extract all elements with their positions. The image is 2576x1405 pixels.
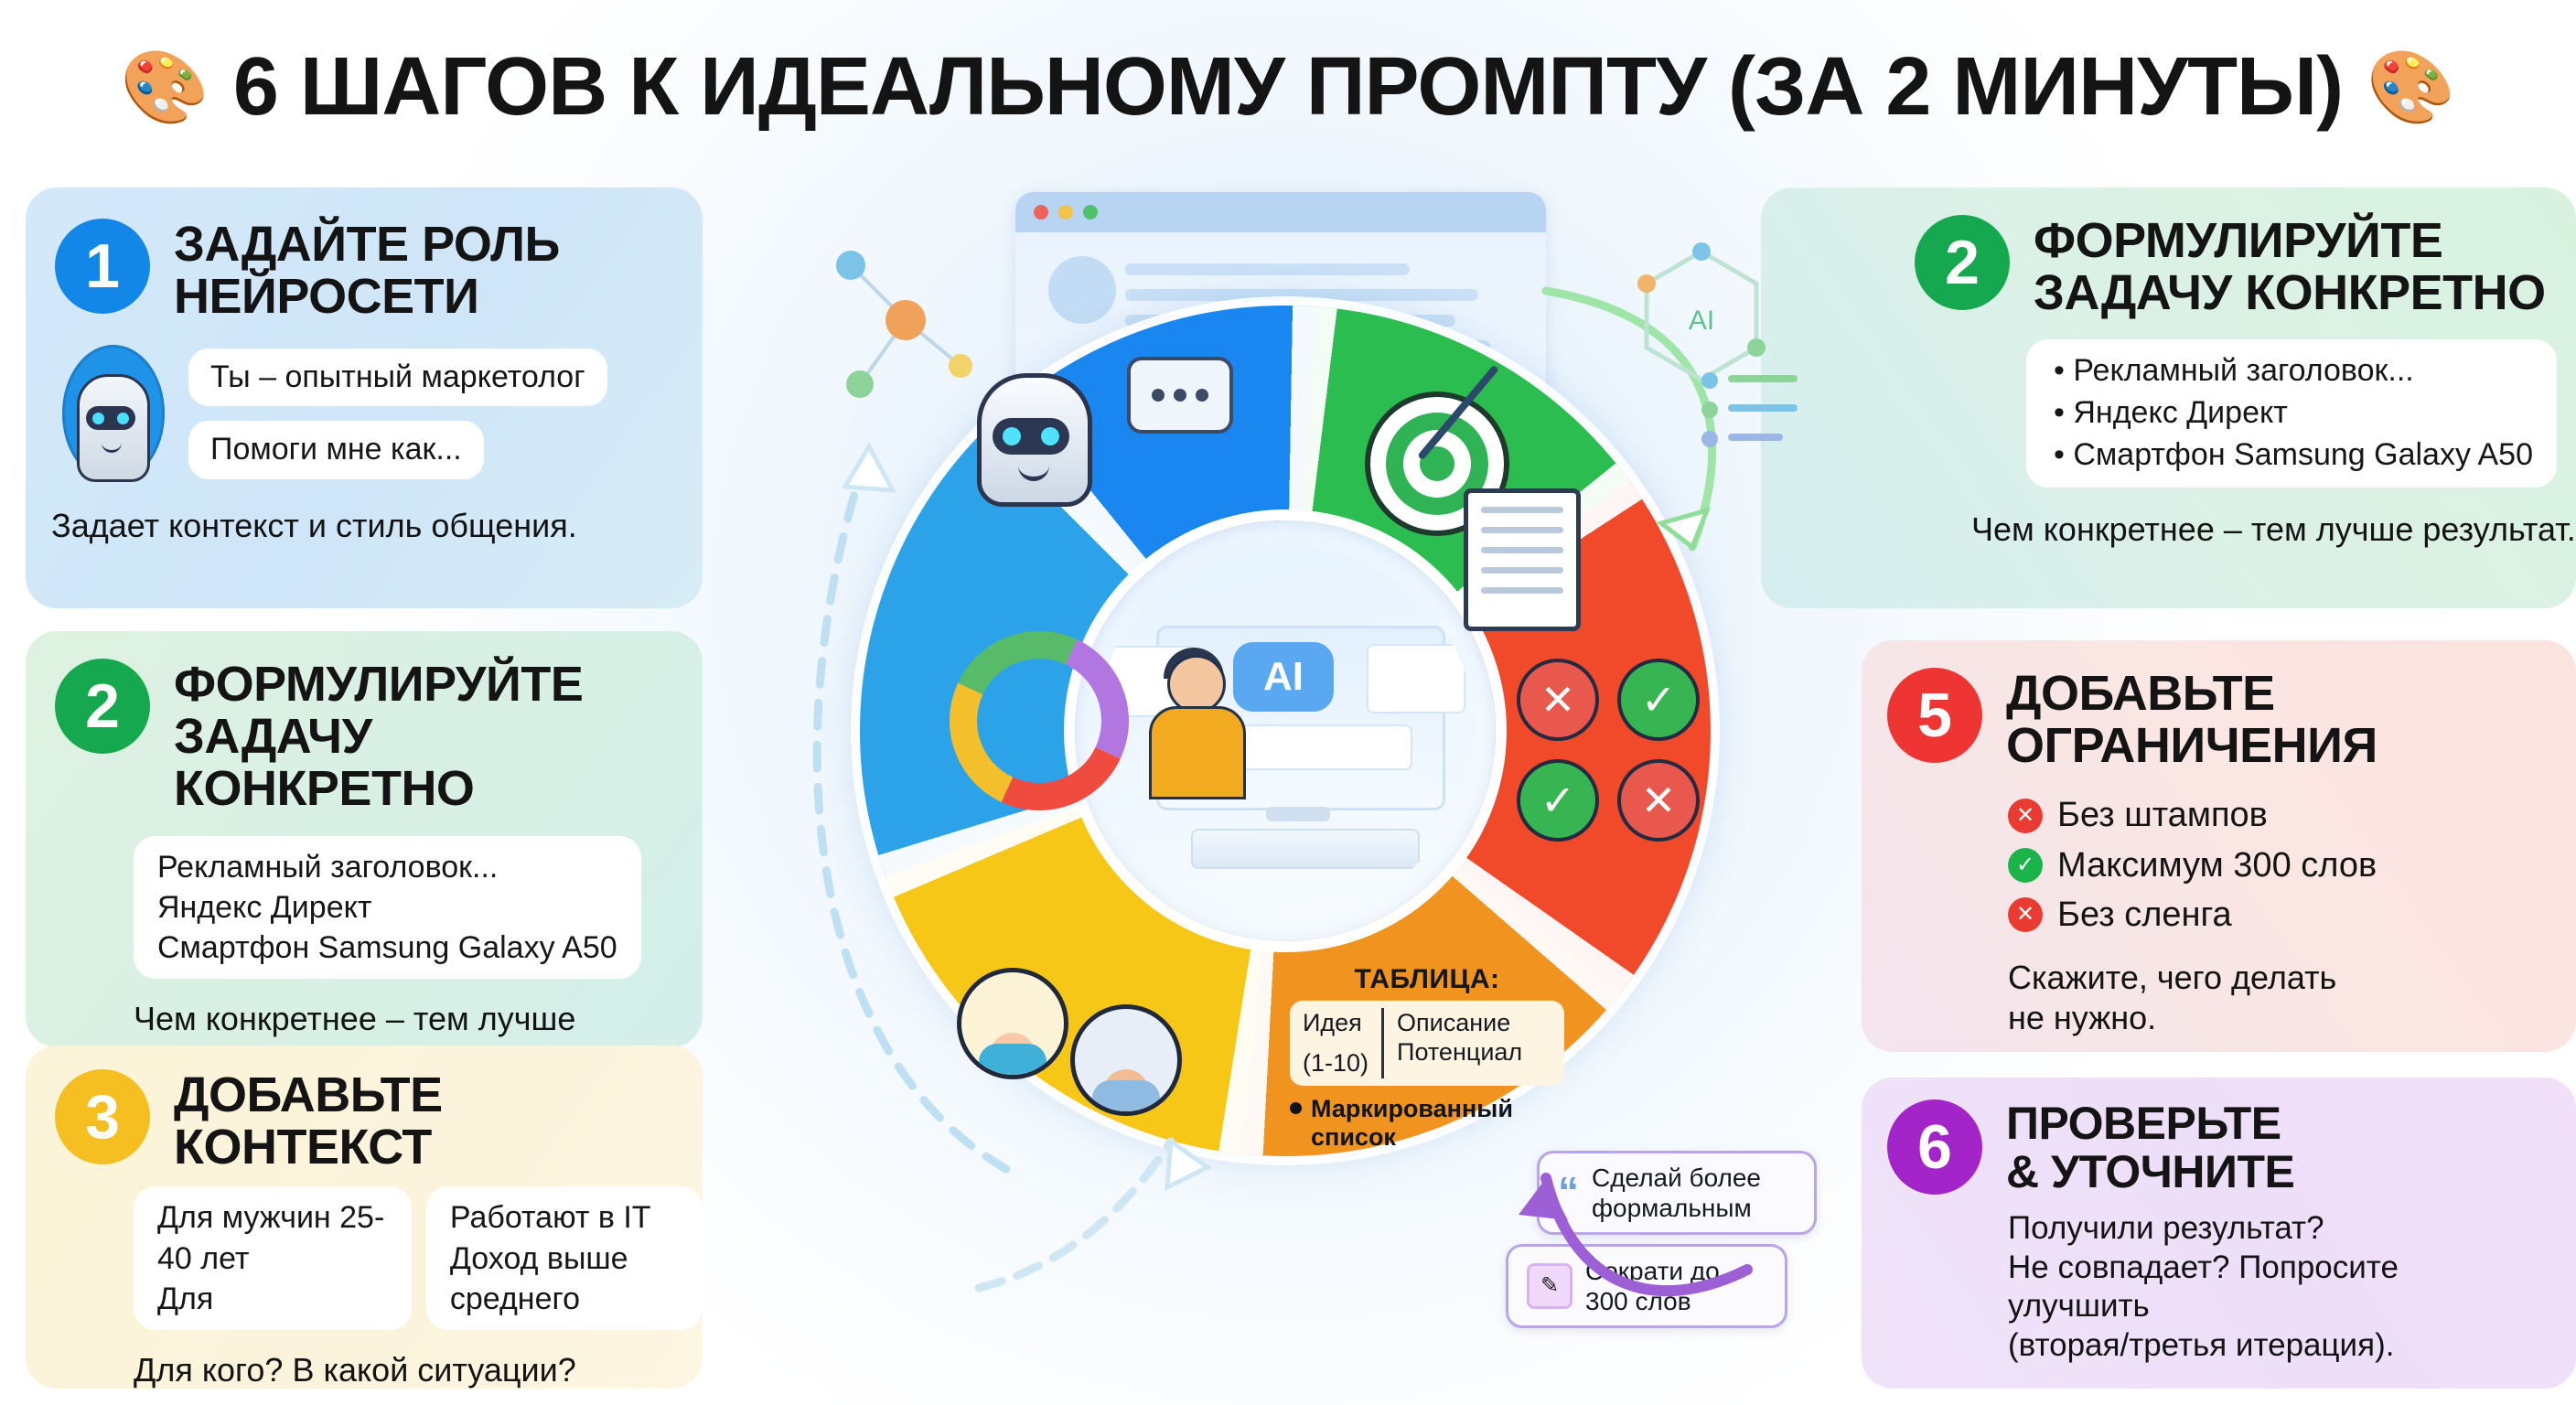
step-title-2l-line2: ЗАДАЧУ КОНКРЕТНО: [174, 711, 681, 815]
check-icon-wheel-2: ✓: [1517, 759, 1599, 842]
molecule-icon-left: [805, 229, 988, 430]
monitor-stand: [1266, 807, 1330, 821]
constraint-item-2: ✓ Максимум 300 слов: [2008, 842, 2576, 888]
cross-icon-1: ✕: [2008, 799, 2043, 833]
constraint-item-3: ✕ Без сленга: [2008, 892, 2576, 938]
mon-input-field: [1235, 724, 1412, 770]
step-number-badge-1: 1: [55, 219, 150, 314]
task-bullet-card[interactable]: • Рекламный заголовок... • Яндекс Директ…: [2026, 339, 2557, 488]
chip-line-2: Яндекс Директ: [157, 887, 617, 928]
flow-arrow-purple: [1445, 1041, 1775, 1343]
step-footer-1: Задает контекст и стиль общения.: [26, 482, 703, 546]
brand-logo-icon: [1048, 256, 1116, 324]
page-title: 🎨 6 ШАГОВ К ИДЕАЛЬНОМУ ПРОМПТУ (ЗА 2 МИН…: [0, 18, 2576, 156]
table-col1-line2: (1-10): [1303, 1048, 1368, 1078]
step-number-badge-3: 3: [55, 1069, 150, 1164]
step-number-badge-6: 6: [1887, 1099, 1982, 1195]
context-a-line-2: Для: [157, 1279, 388, 1319]
step-footer-5-line1: Скажите, чего делать: [2008, 958, 2576, 998]
panel-step-3[interactable]: 3 ДОБАВЬТЕ КОНТЕКСТ Для мужчин 25-40 лет…: [26, 1046, 703, 1389]
infographic-page: 🎨 6 ШАГОВ К ИДЕАЛЬНОМУ ПРОМПТУ (ЗА 2 МИН…: [0, 0, 2576, 1405]
context-chip-a[interactable]: Для мужчин 25-40 лет Для: [134, 1186, 412, 1330]
bullet-dot-icon: [1290, 1102, 1302, 1114]
table-col-1: Идея (1-10): [1303, 1008, 1368, 1078]
flow-arrow-yellow: [942, 1059, 1272, 1334]
step-footer-6-line3: улучшить: [2008, 1287, 2576, 1326]
panel-step-1[interactable]: 1 ЗАДАЙТЕ РОЛЬ НЕЙРОСЕТИ Ты – опытный ма…: [26, 188, 703, 608]
prompt-chip-group-2-left[interactable]: Рекламный заголовок... Яндекс Директ Сма…: [134, 836, 641, 980]
step-title-5-line2: ОГРАНИЧЕНИЯ: [2006, 720, 2377, 772]
step-title-1-line1: ЗАДАЙТЕ РОЛЬ: [174, 219, 560, 271]
person-body: [1149, 706, 1246, 799]
svg-text:AI: AI: [1689, 306, 1714, 336]
mon-card-right: [1367, 644, 1465, 713]
step-footer-6-line1: Получили результат?: [2008, 1209, 2576, 1249]
palette-icon-left: 🎨: [121, 51, 209, 123]
validation-marks-group: ✕ ✓ ✓ ✕: [1517, 659, 1700, 842]
hub-illustration: AI: [1096, 545, 1475, 917]
chip-line-1: Рекламный заголовок...: [157, 847, 617, 887]
step-footer-2-right: Чем конкретнее – тем лучше результат.: [1761, 488, 2576, 550]
prompt-chip-1[interactable]: Ты – опытный маркетолог: [188, 349, 607, 407]
task-bullet-1: • Рекламный заголовок...: [2054, 350, 2533, 392]
step-footer-5-line2: не нужно.: [2008, 998, 2576, 1038]
context-chip-b[interactable]: Работают в IT Доход выше среднего: [426, 1186, 703, 1330]
context-b-line-1: Работают в IT: [450, 1197, 679, 1238]
step-title-6-line2: & УТОЧНИТЕ: [2006, 1148, 2294, 1196]
speech-bubble-icon: [1127, 357, 1233, 434]
step-footer-6-line4: (вторая/третья итерация).: [2008, 1326, 2576, 1366]
step-title-2r-line2: ЗАДАЧУ КОНКРЕТНО: [2034, 267, 2546, 319]
step-title-1-line2: НЕЙРОСЕТИ: [174, 271, 560, 323]
ai-bubble: AI: [1233, 642, 1334, 712]
cross-icon-2: ✕: [2008, 897, 2043, 932]
cross-icon-wheel-1: ✕: [1517, 659, 1599, 741]
maximize-dot-icon: [1083, 205, 1098, 220]
keyboard-icon: [1191, 829, 1420, 869]
table-col2-line1: Описание: [1397, 1008, 1522, 1037]
step-number-badge-5: 5: [1887, 668, 1982, 763]
panel-step-2-right[interactable]: 2 ФОРМУЛИРУЙТЕ ЗАДАЧУ КОНКРЕТНО • Реклам…: [1761, 188, 2576, 608]
chip-line-3: Смартфон Samsung Galaxy A50: [157, 928, 617, 968]
step-footer-2-left: Чем конкретнее – тем лучше результат.: [26, 979, 703, 1047]
step-number-badge-2-right: 2: [1915, 215, 2010, 310]
step-title-2l-line1: ФОРМУЛИРУЙТЕ: [174, 659, 681, 711]
title-text: 6 ШАГОВ К ИДЕАЛЬНОМУ ПРОМПТУ (ЗА 2 МИНУТ…: [233, 40, 2343, 134]
table-col1-line1: Идея: [1303, 1008, 1368, 1037]
cross-icon-wheel-2: ✕: [1617, 759, 1700, 842]
task-bullet-3: • Смартфон Samsung Galaxy A50: [2054, 434, 2533, 477]
list-lines-icon: [1697, 366, 1807, 476]
minimize-dot-icon: [1058, 205, 1073, 220]
table-bullet-line2: список: [1311, 1123, 1396, 1151]
step-number-badge-2-left: 2: [55, 659, 150, 754]
step-title-2r-line1: ФОРМУЛИРУЙТЕ: [2034, 215, 2546, 267]
context-b-line-2: Доход выше среднего: [450, 1239, 679, 1319]
step-footer-3-line1: Для кого? В какой ситуации?: [134, 1350, 703, 1389]
browser-titlebar: [1015, 192, 1546, 232]
step-footer-6-line2: Не совпадает? Попросите: [2008, 1249, 2576, 1288]
context-a-line-1: Для мужчин 25-40 лет: [157, 1197, 388, 1278]
check-icon-1: ✓: [2008, 848, 2043, 883]
task-bullet-2: • Яндекс Директ: [2054, 392, 2533, 434]
check-icon-wheel-1: ✓: [1617, 659, 1700, 741]
panel-step-2-left[interactable]: 2 ФОРМУЛИРУЙТЕ ЗАДАЧУ КОНКРЕТНО Рекламны…: [26, 631, 703, 1047]
close-dot-icon: [1034, 205, 1048, 220]
step-title-3-line1: ДОБАВЬТЕ КОНТЕКСТ: [174, 1069, 684, 1174]
person-head: [1167, 655, 1226, 713]
table-divider: [1381, 1008, 1384, 1078]
panel-step-5[interactable]: 5 ДОБАВЬТЕ ОГРАНИЧЕНИЯ ✕ Без штампов ✓ М…: [1862, 640, 2576, 1052]
robot-avatar-icon: [62, 345, 165, 482]
step-title-6-line1: ПРОВЕРЬТЕ: [2006, 1099, 2294, 1148]
step-title-5-line1: ДОБАВЬТЕ: [2006, 668, 2377, 720]
prompt-chip-2[interactable]: Помоги мне как...: [188, 421, 484, 479]
palette-icon-right: 🎨: [2367, 51, 2455, 123]
table-title: ТАБЛИЦА:: [1290, 964, 1564, 995]
constraint-item-1: ✕ Без штампов: [2008, 792, 2576, 838]
panel-step-6[interactable]: 6 ПРОВЕРЬТЕ & УТОЧНИТЕ Получили результа…: [1862, 1078, 2576, 1389]
